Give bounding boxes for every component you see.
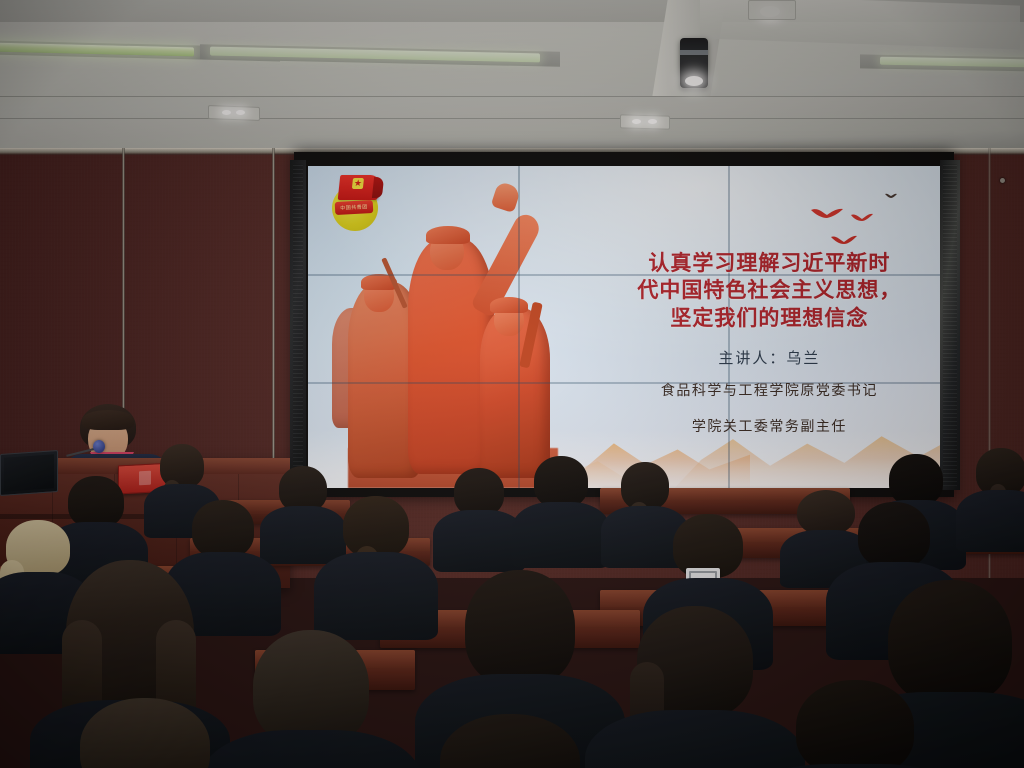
slide-presenter: 主讲人：乌兰 bbox=[599, 347, 940, 368]
list-item bbox=[60, 698, 230, 768]
spotlight-lens bbox=[685, 76, 703, 86]
emblem-band-text: 中国共青团 bbox=[340, 203, 368, 211]
communist-youth-league-emblem: ★ 中国共青团 bbox=[328, 175, 384, 231]
list-item bbox=[268, 466, 338, 538]
list-item bbox=[524, 456, 598, 536]
recessed-downlight bbox=[648, 119, 657, 124]
audience-area bbox=[0, 430, 1024, 768]
recessed-downlight bbox=[632, 119, 641, 124]
slide-text-block: 认真学习理解习近平新时 代中国特色社会主义思想， 坚定我们的理想信念 主讲人：乌… bbox=[599, 250, 940, 441]
slide-title-line-2: 代中国特色社会主义思想， bbox=[599, 277, 940, 305]
list-item bbox=[420, 714, 600, 768]
slide-title-line-1: 认真学习理解习近平新时 bbox=[599, 250, 940, 278]
track-spotlight bbox=[680, 38, 708, 88]
slide-role-line-1: 食品科学与工程学院原党委书记 bbox=[599, 378, 940, 405]
recessed-downlight bbox=[222, 110, 231, 115]
list-item bbox=[620, 606, 770, 768]
list-item bbox=[236, 630, 386, 768]
list-item bbox=[444, 468, 514, 544]
slide-title-line-3: 坚定我们的理想信念 bbox=[599, 305, 940, 333]
list-item bbox=[770, 680, 940, 768]
ceiling bbox=[0, 0, 1024, 152]
recessed-downlight bbox=[236, 110, 245, 115]
list-item bbox=[968, 448, 1024, 528]
flying-birds-icon bbox=[802, 186, 912, 256]
list-item bbox=[330, 496, 422, 602]
photograph-scene: ★ 中国共青团 认真学习理解习近平新时 代中国特色 bbox=[0, 0, 1024, 768]
